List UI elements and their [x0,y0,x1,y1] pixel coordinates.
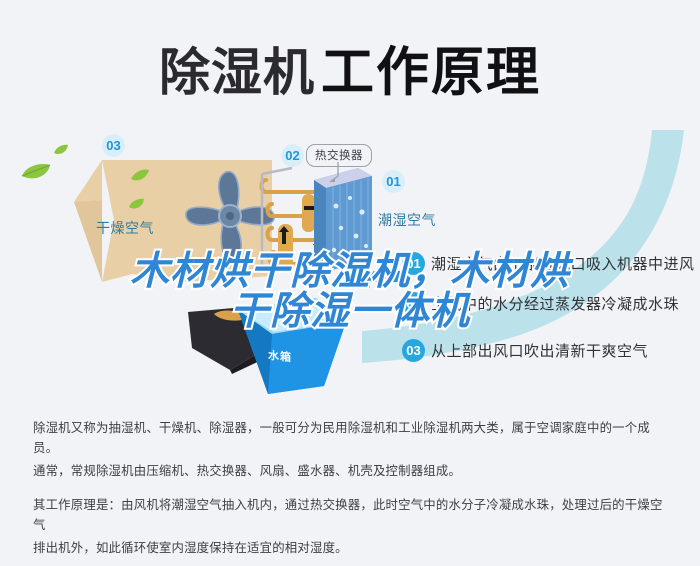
step-line-03: 03 从上部出风口吹出清新干爽空气 [402,339,648,362]
callout-label-humid-air: 潮湿空气 [378,210,436,230]
callout-badge-02: 02 [281,144,304,167]
dehumidifier-diagram: 水箱 03 干燥空气 02 热交换器 01 潮湿空气 01 潮湿空气由下部进风口… [0,126,700,404]
bubble-pointer-icon [318,162,344,184]
step-badge-02: 02 [402,292,425,315]
leaf-icon [128,198,145,211]
body-copy: 除湿机又称为抽湿机、干燥机、除湿器，一般可分为民用除湿机和工业除湿机两大类，属于… [33,418,667,561]
step-text-03: 从上部出风口吹出清新干爽空气 [431,340,648,361]
leaf-icon [53,144,69,156]
copy-p2-l1: 其工作原理是：由风机将潮湿空气抽入机内，通过热交换器，此时空气中的水分子冷凝成水… [33,495,667,535]
callout-badge-01: 01 [382,170,405,193]
water-tank-label: 水箱 [268,347,292,366]
step-line-02: 02 空气中的水分经过蒸发器冷凝成水珠 [402,292,679,315]
copy-p1-l1: 除湿机又称为抽湿机、干燥机、除湿器，一般可分为民用除湿机和工业除湿机两大类，属于… [33,418,667,458]
step-badge-01: 01 [402,252,425,275]
infographic-page: 除湿机工作原理 [0,0,700,566]
leaf-icon [20,162,54,182]
callout-label-dry-air: 干燥空气 [96,218,154,238]
step-text-01: 潮湿空气由下部进风口吸入机器中进风 [431,253,695,274]
page-title-part-2: 工作原理 [321,42,541,103]
page-title-part-1: 除湿机 [159,44,315,103]
leaf-icon [130,168,150,183]
page-title: 除湿机工作原理 [0,30,700,106]
callout-badge-03: 03 [102,134,125,157]
step-badge-03: 03 [402,339,425,362]
air-inlet-arrow [352,266,406,288]
humid-air-flow-curve [372,128,700,368]
copy-p2-l2: 排出机外，如此循环使室内湿度保持在适宜的相对湿度。 [33,538,667,558]
copy-p1-l2: 通常，常规除湿机由压缩机、热交换器、风扇、盛水器、机壳及控制器组成。 [33,461,667,481]
step-text-02: 空气中的水分经过蒸发器冷凝成水珠 [431,293,679,314]
step-line-01: 01 潮湿空气由下部进风口吸入机器中进风 [402,252,695,275]
